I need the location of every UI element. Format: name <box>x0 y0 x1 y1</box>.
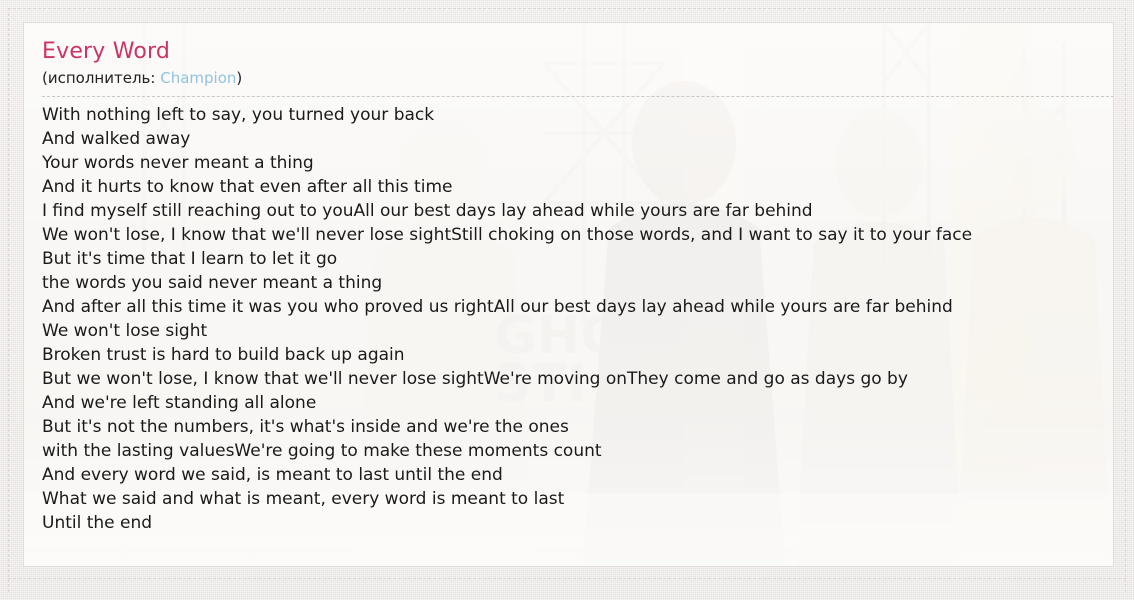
lyric-line: We won't lose, I know that we'll never l… <box>42 223 1095 247</box>
lyric-line: with the lasting valuesWe're going to ma… <box>42 439 1095 463</box>
lyrics-text: With nothing left to say, you turned you… <box>42 103 1095 535</box>
artist-link[interactable]: Champion <box>160 69 236 87</box>
backdrop-dashed-border-bottom <box>8 578 1126 579</box>
lyric-line: But we won't lose, I know that we'll nev… <box>42 367 1095 391</box>
lyric-line: But it's not the numbers, it's what's in… <box>42 415 1095 439</box>
lyric-line: And every word we said, is meant to last… <box>42 463 1095 487</box>
lyric-line: Broken trust is hard to build back up ag… <box>42 343 1095 367</box>
lyric-line: With nothing left to say, you turned you… <box>42 103 1095 127</box>
artist-line: (исполнитель: Champion) <box>42 67 1095 93</box>
lyric-line: We won't lose sight <box>42 319 1095 343</box>
lyric-line: Until the end <box>42 511 1095 535</box>
lyric-line: the words you said never meant a thing <box>42 271 1095 295</box>
lyric-line: And it hurts to know that even after all… <box>42 175 1095 199</box>
backdrop-dashed-border-left <box>8 8 9 592</box>
lyric-line: And walked away <box>42 127 1095 151</box>
lyric-line: What we said and what is meant, every wo… <box>42 487 1095 511</box>
lyric-line: But it's time that I learn to let it go <box>42 247 1095 271</box>
artist-suffix-label: ) <box>236 69 242 87</box>
backdrop-dashed-border-right <box>1125 8 1126 592</box>
backdrop-dashed-border-top <box>8 8 1126 9</box>
lyric-line: And after all this time it was you who p… <box>42 295 1095 319</box>
lyric-line: Your words never meant a thing <box>42 151 1095 175</box>
card-content: Every Word (исполнитель: Champion) With … <box>24 23 1113 535</box>
lyric-line: And we're left standing all alone <box>42 391 1095 415</box>
lyric-line: I find myself still reaching out to youA… <box>42 199 1095 223</box>
lyrics-card: GHO STI Every Word (исполнитель: Champio… <box>23 22 1114 567</box>
artist-prefix-label: (исполнитель: <box>42 69 155 87</box>
page-title: Every Word <box>42 33 1095 67</box>
divider <box>42 96 1114 97</box>
